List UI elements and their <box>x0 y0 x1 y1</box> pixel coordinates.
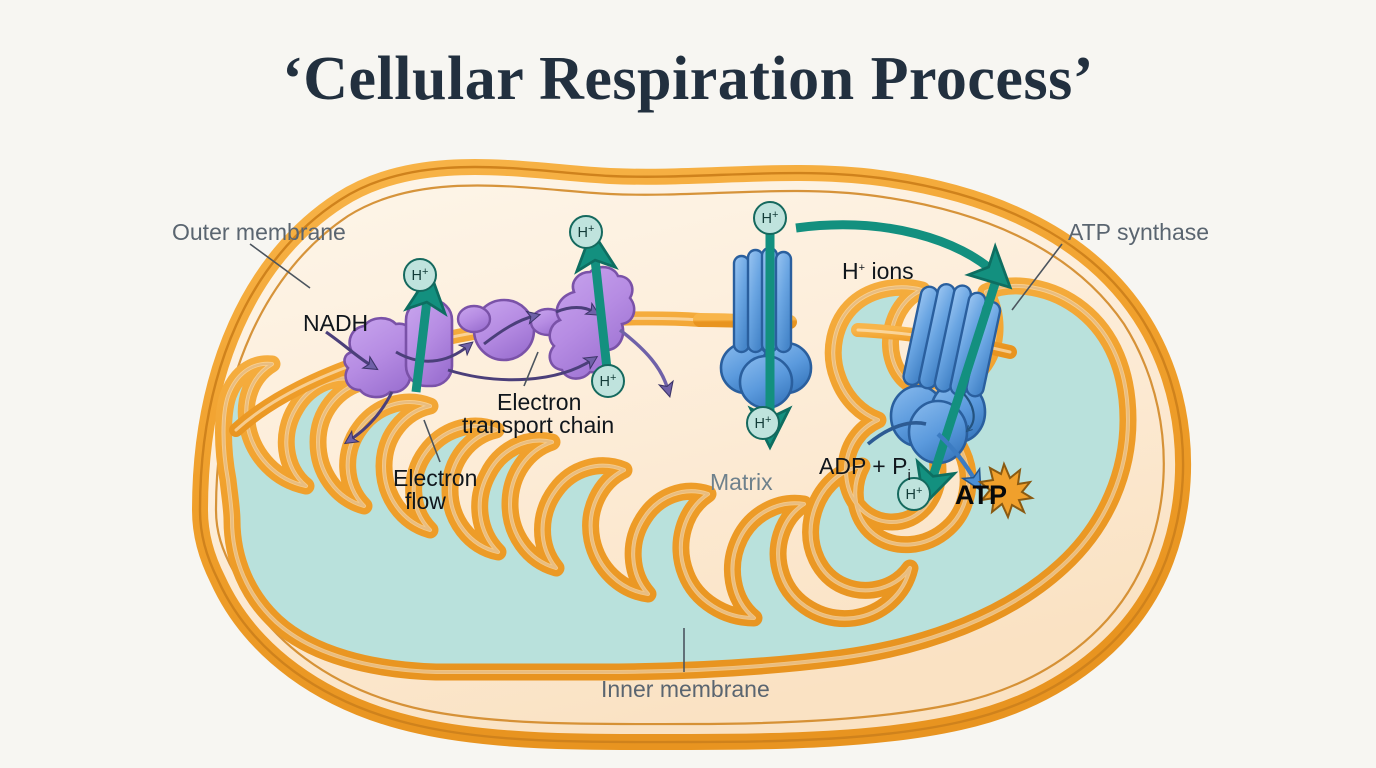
label-electron-transport-chain-line2: transport chain <box>462 412 614 438</box>
proton-marker: H+ <box>570 216 602 248</box>
label-atp: ATP <box>955 480 1007 510</box>
label-adp-main: ADP + P <box>819 453 907 479</box>
label-electron-flow-line2: flow <box>405 488 446 514</box>
label-inner-membrane: Inner membrane <box>601 676 770 702</box>
label-h-ions-base: H <box>842 258 859 284</box>
atp-synthase-middle-barrel <box>734 248 791 352</box>
mitochondrion-diagram: H+ H+ H+ H+ H+ H+ <box>0 0 1376 768</box>
label-nadh: NADH <box>303 310 368 336</box>
label-outer-membrane: Outer membrane <box>172 219 346 245</box>
proton-marker: H+ <box>404 259 436 291</box>
diagram-canvas: ‘Cellular Respiration Process’ <box>0 0 1376 768</box>
proton-marker: H+ <box>747 407 779 439</box>
proton-marker: H+ <box>898 478 930 510</box>
label-h-ions-tail: ions <box>865 258 914 284</box>
proton-marker: H+ <box>754 202 786 234</box>
label-matrix: Matrix <box>710 469 773 495</box>
label-h-ions: H+ ions <box>842 258 914 284</box>
proton-marker: H+ <box>592 365 624 397</box>
label-atp-synthase: ATP synthase <box>1068 219 1209 245</box>
label-adp-sub: i <box>907 467 910 484</box>
